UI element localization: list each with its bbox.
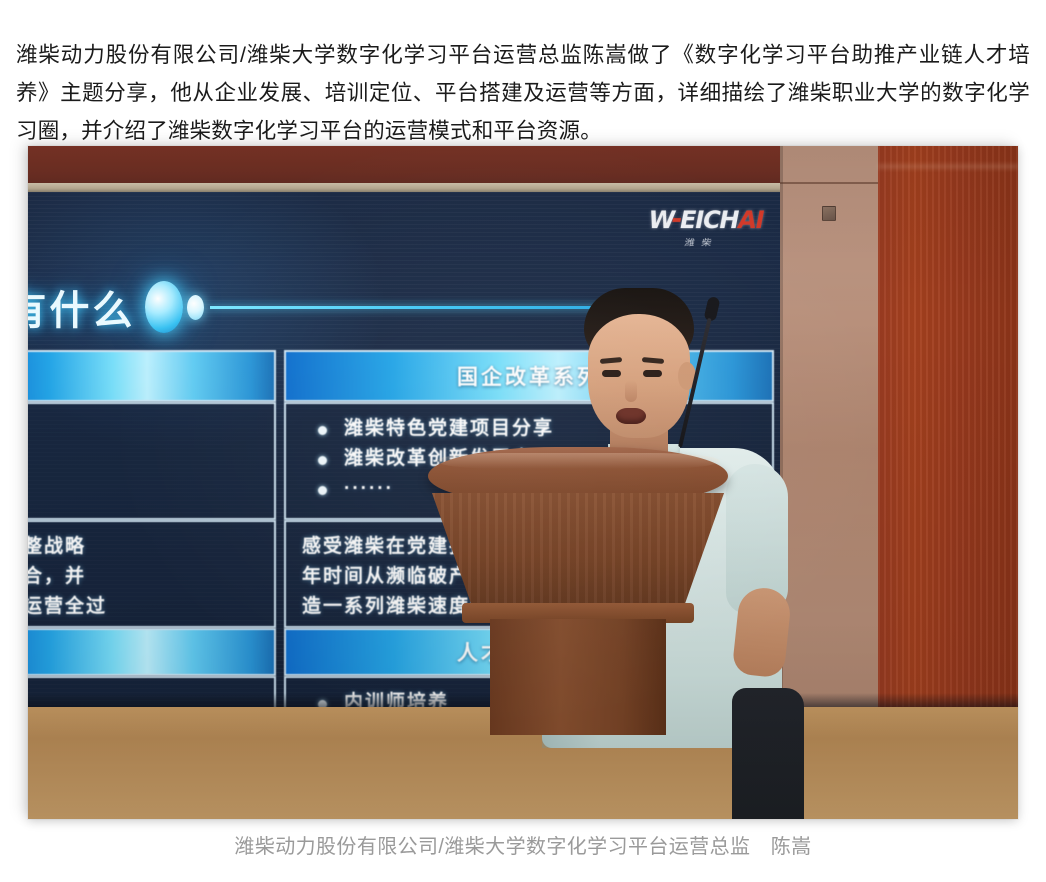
slide-orb-large-icon	[145, 281, 183, 333]
weichai-logo-mid: EICH	[678, 206, 742, 234]
podium-body	[432, 493, 724, 609]
article-figure-page: 潍柴动力股份有限公司/潍柴大学数字化学习平台运营总监陈嵩做了《数字化学习平台助推…	[0, 0, 1046, 882]
speaker-trousers	[732, 688, 804, 819]
speaker-nose	[625, 380, 637, 402]
wall-plate-icon	[822, 206, 836, 221]
speaker-eye-left	[602, 370, 621, 377]
wall-seam	[780, 182, 878, 184]
weichai-logo-subtext: 潍柴	[684, 235, 720, 248]
weichai-logo-wordmark: WEICHAI	[647, 208, 766, 232]
speaker-mouth	[616, 408, 646, 424]
figure-block: WEICHAI 潍柴 ]有什么 国	[12, 130, 1034, 870]
slide-cell-left-body-1	[28, 402, 276, 520]
photo-frame: WEICHAI 潍柴 ]有什么 国	[28, 146, 1018, 819]
slide-cell-left-band-1	[28, 350, 276, 402]
slide-cell-left-band-2	[28, 628, 276, 676]
weichai-logo-accent: AI	[736, 206, 767, 234]
weichai-logo-bar	[673, 218, 682, 222]
conference-photo: WEICHAI 潍柴 ]有什么 国	[28, 146, 1018, 819]
weichai-logo: WEICHAI 潍柴	[643, 208, 766, 249]
speaker-eye-right	[643, 370, 662, 377]
slide-cell-left-body-2: 体整战略 融合，并 业运营全过	[28, 520, 276, 628]
podium-base	[490, 619, 666, 735]
slide-orb-small-icon	[187, 295, 204, 320]
podium	[428, 447, 728, 747]
slide-heading-text: ]有什么	[28, 278, 135, 336]
figure-caption: 潍柴动力股份有限公司/潍柴大学数字化学习平台运营总监 陈嵩	[28, 832, 1018, 862]
